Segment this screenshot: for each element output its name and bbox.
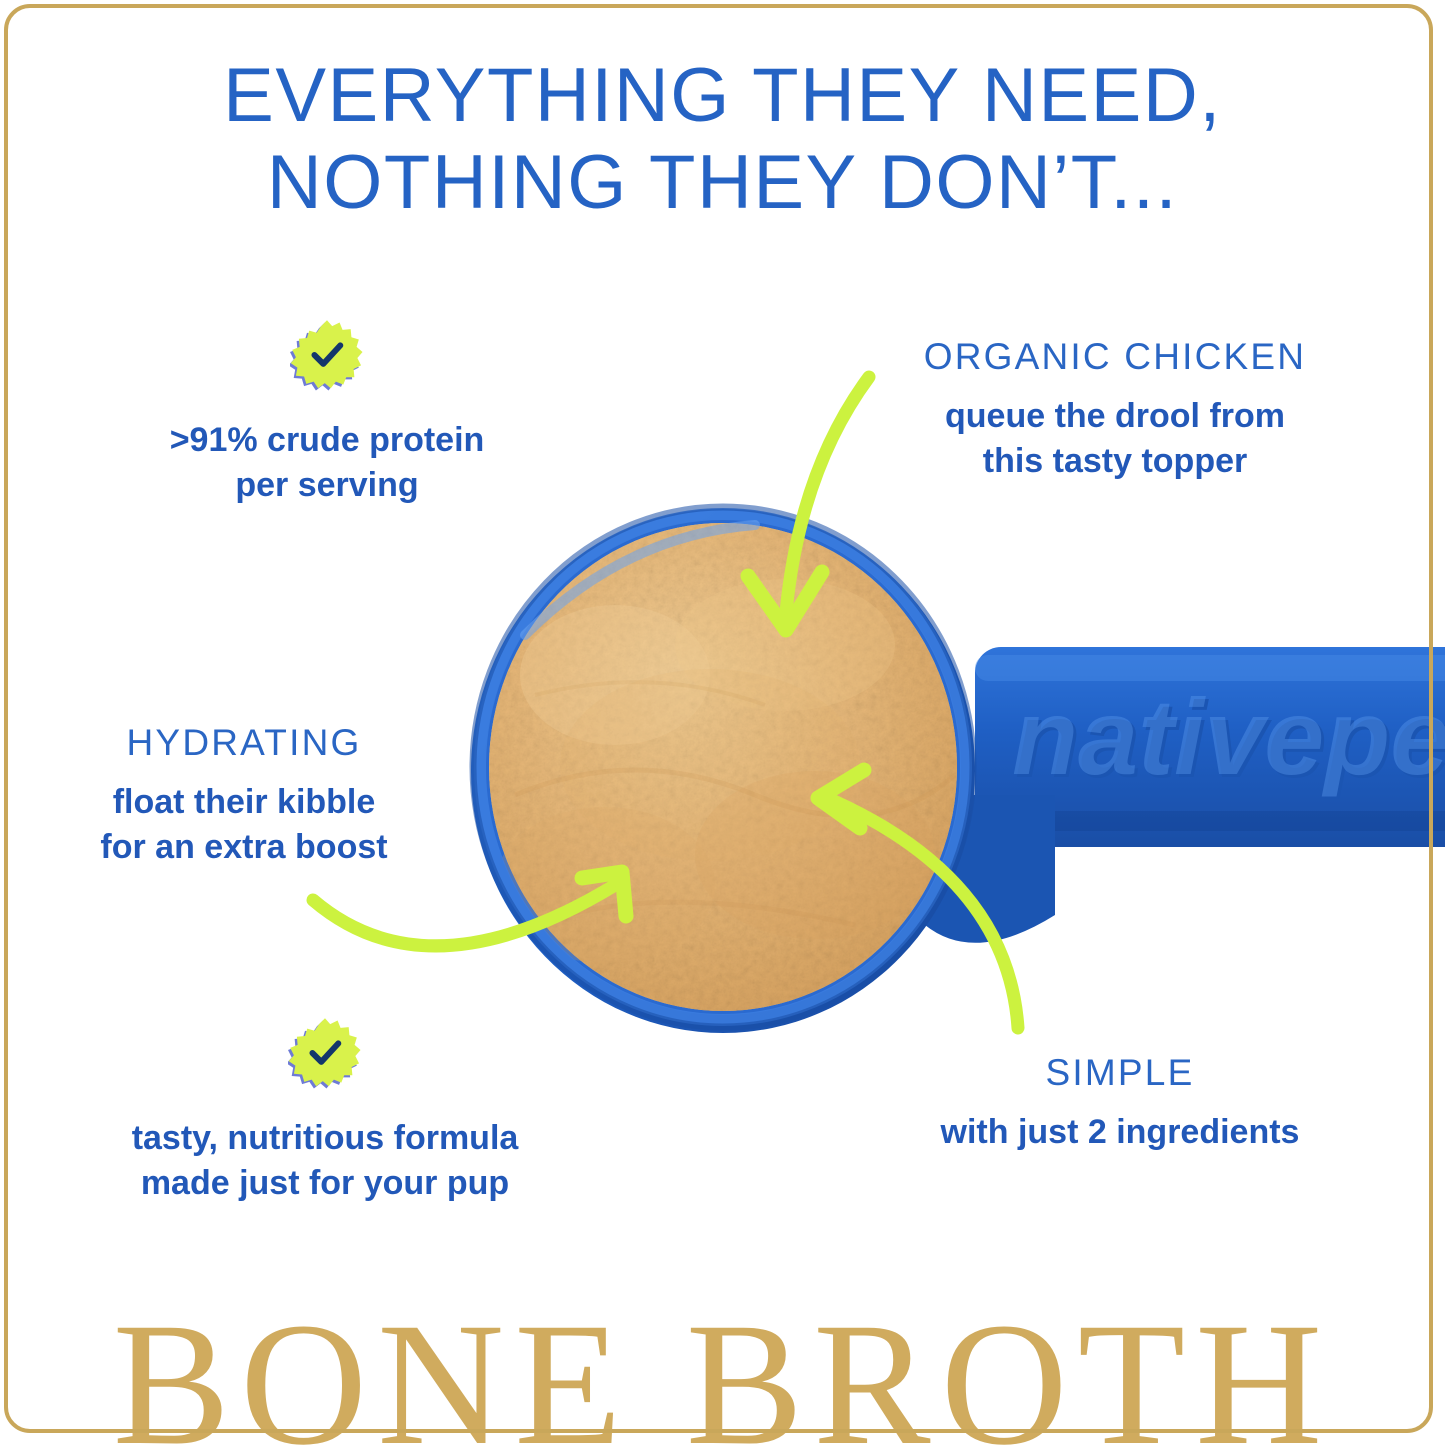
callout-protein-line-1: >91% crude protein	[92, 418, 562, 463]
callout-simple: SIMPLE with just 2 ingredients	[900, 1052, 1340, 1155]
callout-hydrating-line-2: for an extra boost	[44, 825, 444, 870]
callout-hydrating: HYDRATING float their kibble for an extr…	[44, 722, 444, 870]
callout-organic-chicken: ORGANIC CHICKEN queue the drool from thi…	[880, 336, 1350, 484]
check-badge-icon	[290, 318, 364, 392]
callout-simple-title: SIMPLE	[900, 1052, 1340, 1094]
callout-formula-line-2: made just for your pup	[60, 1161, 590, 1206]
callout-hydrating-line-1: float their kibble	[44, 780, 444, 825]
product-infographic: EVERYTHING THEY NEED, NOTHING THEY DON’T…	[0, 0, 1445, 1445]
product-wordmark: BONE BROTH	[0, 1297, 1445, 1445]
check-badge-icon	[288, 1016, 362, 1090]
callout-protein: >91% crude protein per serving	[92, 318, 562, 508]
page-title: EVERYTHING THEY NEED, NOTHING THEY DON’T…	[0, 52, 1445, 227]
callout-hydrating-title: HYDRATING	[44, 722, 444, 764]
product-image-scoop: nativepe nativepe	[455, 495, 1445, 1055]
callout-organic-chicken-line-2: this tasty topper	[880, 439, 1350, 484]
svg-text:nativepe: nativepe	[1012, 676, 1445, 797]
callout-simple-line-1: with just 2 ingredients	[900, 1110, 1340, 1155]
headline-line-1: EVERYTHING THEY NEED,	[0, 52, 1445, 139]
callout-organic-chicken-title: ORGANIC CHICKEN	[880, 336, 1350, 378]
scoop-bowl	[471, 507, 1055, 1033]
callout-organic-chicken-line-1: queue the drool from	[880, 394, 1350, 439]
callout-formula-line-1: tasty, nutritious formula	[60, 1116, 590, 1161]
headline-line-2: NOTHING THEY DON’T...	[0, 139, 1445, 226]
